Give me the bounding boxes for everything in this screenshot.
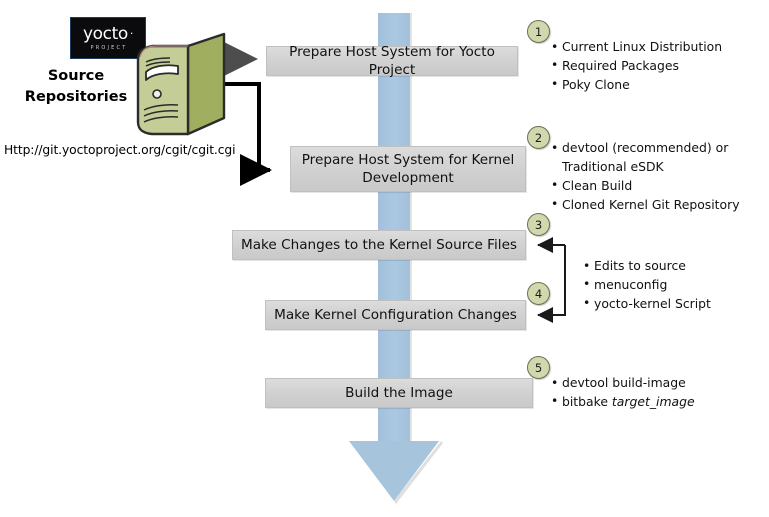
notes-step-3-and-4: Edits to source menuconfig yocto-kernel …	[583, 257, 763, 314]
server-tower-icon	[132, 30, 230, 140]
step-number-1: 1	[527, 20, 550, 43]
note-item: Required Packages	[551, 57, 763, 76]
source-repository-url: Http://git.yoctoproject.org/cgit/cgit.cg…	[4, 143, 235, 157]
step-number-5: 5	[527, 356, 550, 379]
note-command: bitbake	[562, 394, 612, 409]
note-item: Poky Clone	[551, 76, 763, 95]
source-repositories-label: Source Repositories	[14, 66, 138, 108]
logo-subtext: PROJECT	[90, 46, 127, 51]
diagram-canvas: yocto· PROJECT Source Repositories Http:…	[0, 0, 769, 517]
note-item: devtool build-image	[551, 374, 763, 393]
process-box-build-image[interactable]: Build the Image	[265, 378, 533, 408]
note-item: devtool (recommended) or Traditional eSD…	[551, 139, 763, 177]
note-item: Clean Build	[551, 177, 763, 196]
note-item: bitbake target_image	[551, 393, 763, 412]
notes-step-2: devtool (recommended) or Traditional eSD…	[551, 139, 763, 214]
logo-wordmark: yocto·	[83, 26, 133, 43]
logo-wordmark-text: yocto	[83, 24, 128, 44]
note-command-argument: target_image	[612, 394, 695, 409]
process-box-kernel-source-changes[interactable]: Make Changes to the Kernel Source Files	[232, 230, 526, 260]
note-item: menuconfig	[583, 276, 763, 295]
note-item: Current Linux Distribution	[551, 38, 763, 57]
process-box-prepare-host-kernel[interactable]: Prepare Host System for Kernel Developme…	[290, 146, 526, 192]
step-number-4: 4	[527, 282, 550, 305]
process-box-kernel-config-changes[interactable]: Make Kernel Configuration Changes	[265, 300, 526, 330]
process-box-prepare-host-yocto[interactable]: Prepare Host System for Yocto Project	[266, 46, 518, 76]
step-number-3: 3	[527, 213, 550, 236]
step-number-2: 2	[527, 126, 550, 149]
note-item: Cloned Kernel Git Repository	[551, 196, 763, 215]
notes-step-5: devtool build-image bitbake target_image	[551, 374, 763, 412]
note-item: yocto-kernel Script	[583, 295, 763, 314]
connector-loop-step4	[538, 245, 565, 315]
note-item: Edits to source	[583, 257, 763, 276]
notes-step-1: Current Linux Distribution Required Pack…	[551, 38, 763, 95]
